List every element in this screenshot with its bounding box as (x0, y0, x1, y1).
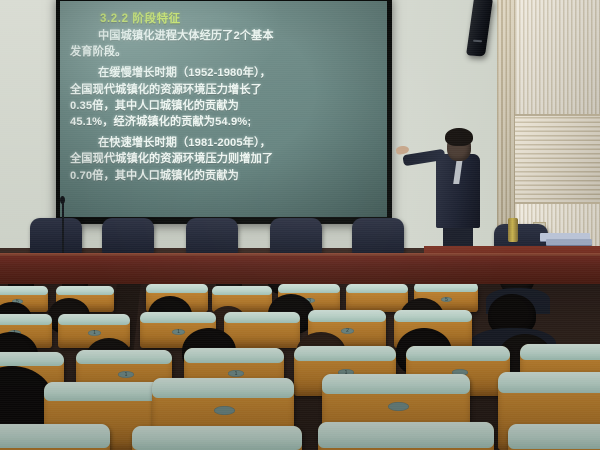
slide-line: 全国现代城镇化的资源环境压力则增加了 (70, 151, 381, 167)
seat[interactable] (0, 424, 110, 450)
seat-number-plate: 5 (441, 297, 452, 302)
thermos-cup (508, 218, 518, 242)
projection-screen-surface: 3.2.2 阶段特征 中国城镇化进程大体经历了2个基本 发育阶段。 在缓慢增长时… (60, 1, 387, 217)
lecture-hall-photo: 3.2.2 阶段特征 中国城镇化进程大体经历了2个基本 发育阶段。 在缓慢增长时… (0, 0, 600, 450)
seat[interactable] (224, 312, 300, 348)
slide-title: 3.2.2 阶段特征 (100, 10, 381, 26)
slide-line: 全国现代城镇化的资源环境压力增长了 (70, 82, 381, 98)
seat-number-plate (214, 406, 235, 415)
seat[interactable] (132, 426, 302, 450)
slide-body: 中国城镇化进程大体经历了2个基本 发育阶段。 在缓慢增长时期（1952-1980… (70, 28, 381, 184)
seat-number-plate (388, 402, 409, 411)
panel-divider-top (515, 114, 600, 116)
seat[interactable] (318, 422, 494, 450)
seat-number-plate: 1 (118, 371, 134, 378)
papers-stack (546, 239, 592, 245)
slide-line: 在缓慢增长时期（1952-1980年）， (70, 65, 381, 81)
slide-line: 45.1%，经济城镇化的贡献为54.9%; (70, 114, 381, 130)
audience-seating: 5 5 3 5 1 (0, 284, 600, 450)
seat-number-plate: 1 (88, 330, 101, 336)
seat-number-plate: 2 (341, 328, 354, 334)
microphone-stem (62, 203, 64, 255)
slide-content: 3.2.2 阶段特征 中国城镇化进程大体经历了2个基本 发育阶段。 在缓慢增长时… (60, 1, 387, 217)
slide-line: 中国城镇化进程大体经历了2个基本 (70, 28, 381, 44)
seat-number-plate: 1 (228, 370, 244, 377)
acoustic-panel-middle-horizontal (515, 116, 600, 204)
presenter-hair (445, 128, 473, 146)
slide-line: 在快速增长时期（1981-2005年）， (70, 135, 381, 151)
acoustic-panel-upper-main (515, 0, 600, 116)
seat[interactable] (508, 424, 600, 450)
slide-line: 0.35倍，其中人口城镇化的贡献为 (70, 98, 381, 114)
seat-number-plate: 1 (172, 329, 185, 335)
projection-screen-frame: 3.2.2 阶段特征 中国城镇化进程大体经历了2个基本 发育阶段。 在缓慢增长时… (56, 0, 392, 224)
slide-line: 0.70倍，其中人口城镇化的贡献为 (70, 168, 381, 184)
seat[interactable] (346, 284, 408, 312)
panel-divider-bottom (515, 202, 600, 204)
slide-line: 发育阶段。 (70, 44, 381, 60)
